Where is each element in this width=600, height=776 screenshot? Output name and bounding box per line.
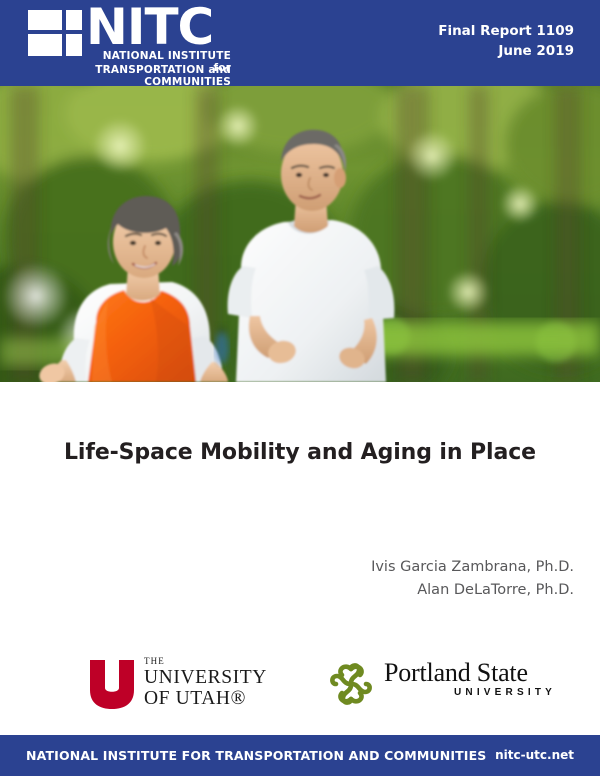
utah-wordmark-line2: OF UTAH® bbox=[144, 688, 267, 709]
university-of-utah-logo: THE UNIVERSITY OF UTAH® bbox=[88, 655, 288, 713]
utah-wordmark-line1: UNIVERSITY bbox=[144, 667, 267, 688]
report-meta: Final Report 1109 June 2019 bbox=[438, 22, 574, 61]
footer-organization: NATIONAL INSTITUTE FOR TRANSPORTATION AN… bbox=[26, 748, 486, 763]
footer-bar: NATIONAL INSTITUTE FOR TRANSPORTATION AN… bbox=[0, 735, 600, 776]
psu-interlocking-knot-icon bbox=[328, 661, 374, 707]
nitc-block-grid-mark-icon bbox=[28, 10, 82, 56]
nitc-acronym: NITC bbox=[86, 2, 213, 52]
cover-photo-illustration bbox=[0, 86, 600, 382]
report-date: June 2019 bbox=[438, 42, 574, 62]
cover-photo bbox=[0, 86, 600, 382]
author-list: Ivis Garcia Zambrana, Ph.D. Alan DeLaTor… bbox=[371, 556, 574, 603]
author-name: Ivis Garcia Zambrana, Ph.D. bbox=[371, 556, 574, 579]
utah-block-u-icon bbox=[88, 658, 136, 710]
author-name: Alan DeLaTorre, Ph.D. bbox=[371, 579, 574, 602]
psu-wordmark-name: Portland State bbox=[384, 659, 556, 686]
report-number: Final Report 1109 bbox=[438, 22, 574, 42]
nitc-logo: NITC NATIONAL INSTITUTE for TRANSPORTATI… bbox=[28, 8, 228, 78]
portland-state-university-logo: Portland State UNIVERSITY bbox=[328, 655, 543, 713]
nitc-tagline-line2: TRANSPORTATION and COMMUNITIES bbox=[28, 64, 231, 88]
partner-logo-row: THE UNIVERSITY OF UTAH® Portland St bbox=[0, 655, 600, 717]
utah-wordmark-the: THE bbox=[144, 657, 267, 666]
utah-wordmark: THE UNIVERSITY OF UTAH® bbox=[144, 657, 267, 709]
psu-wordmark-subname: UNIVERSITY bbox=[384, 687, 556, 698]
header-bar: NITC NATIONAL INSTITUTE for TRANSPORTATI… bbox=[0, 0, 600, 86]
page-title: Life-Space Mobility and Aging in Place bbox=[0, 440, 600, 465]
footer-url[interactable]: nitc-utc.net bbox=[495, 748, 574, 762]
psu-wordmark: Portland State UNIVERSITY bbox=[384, 659, 556, 698]
